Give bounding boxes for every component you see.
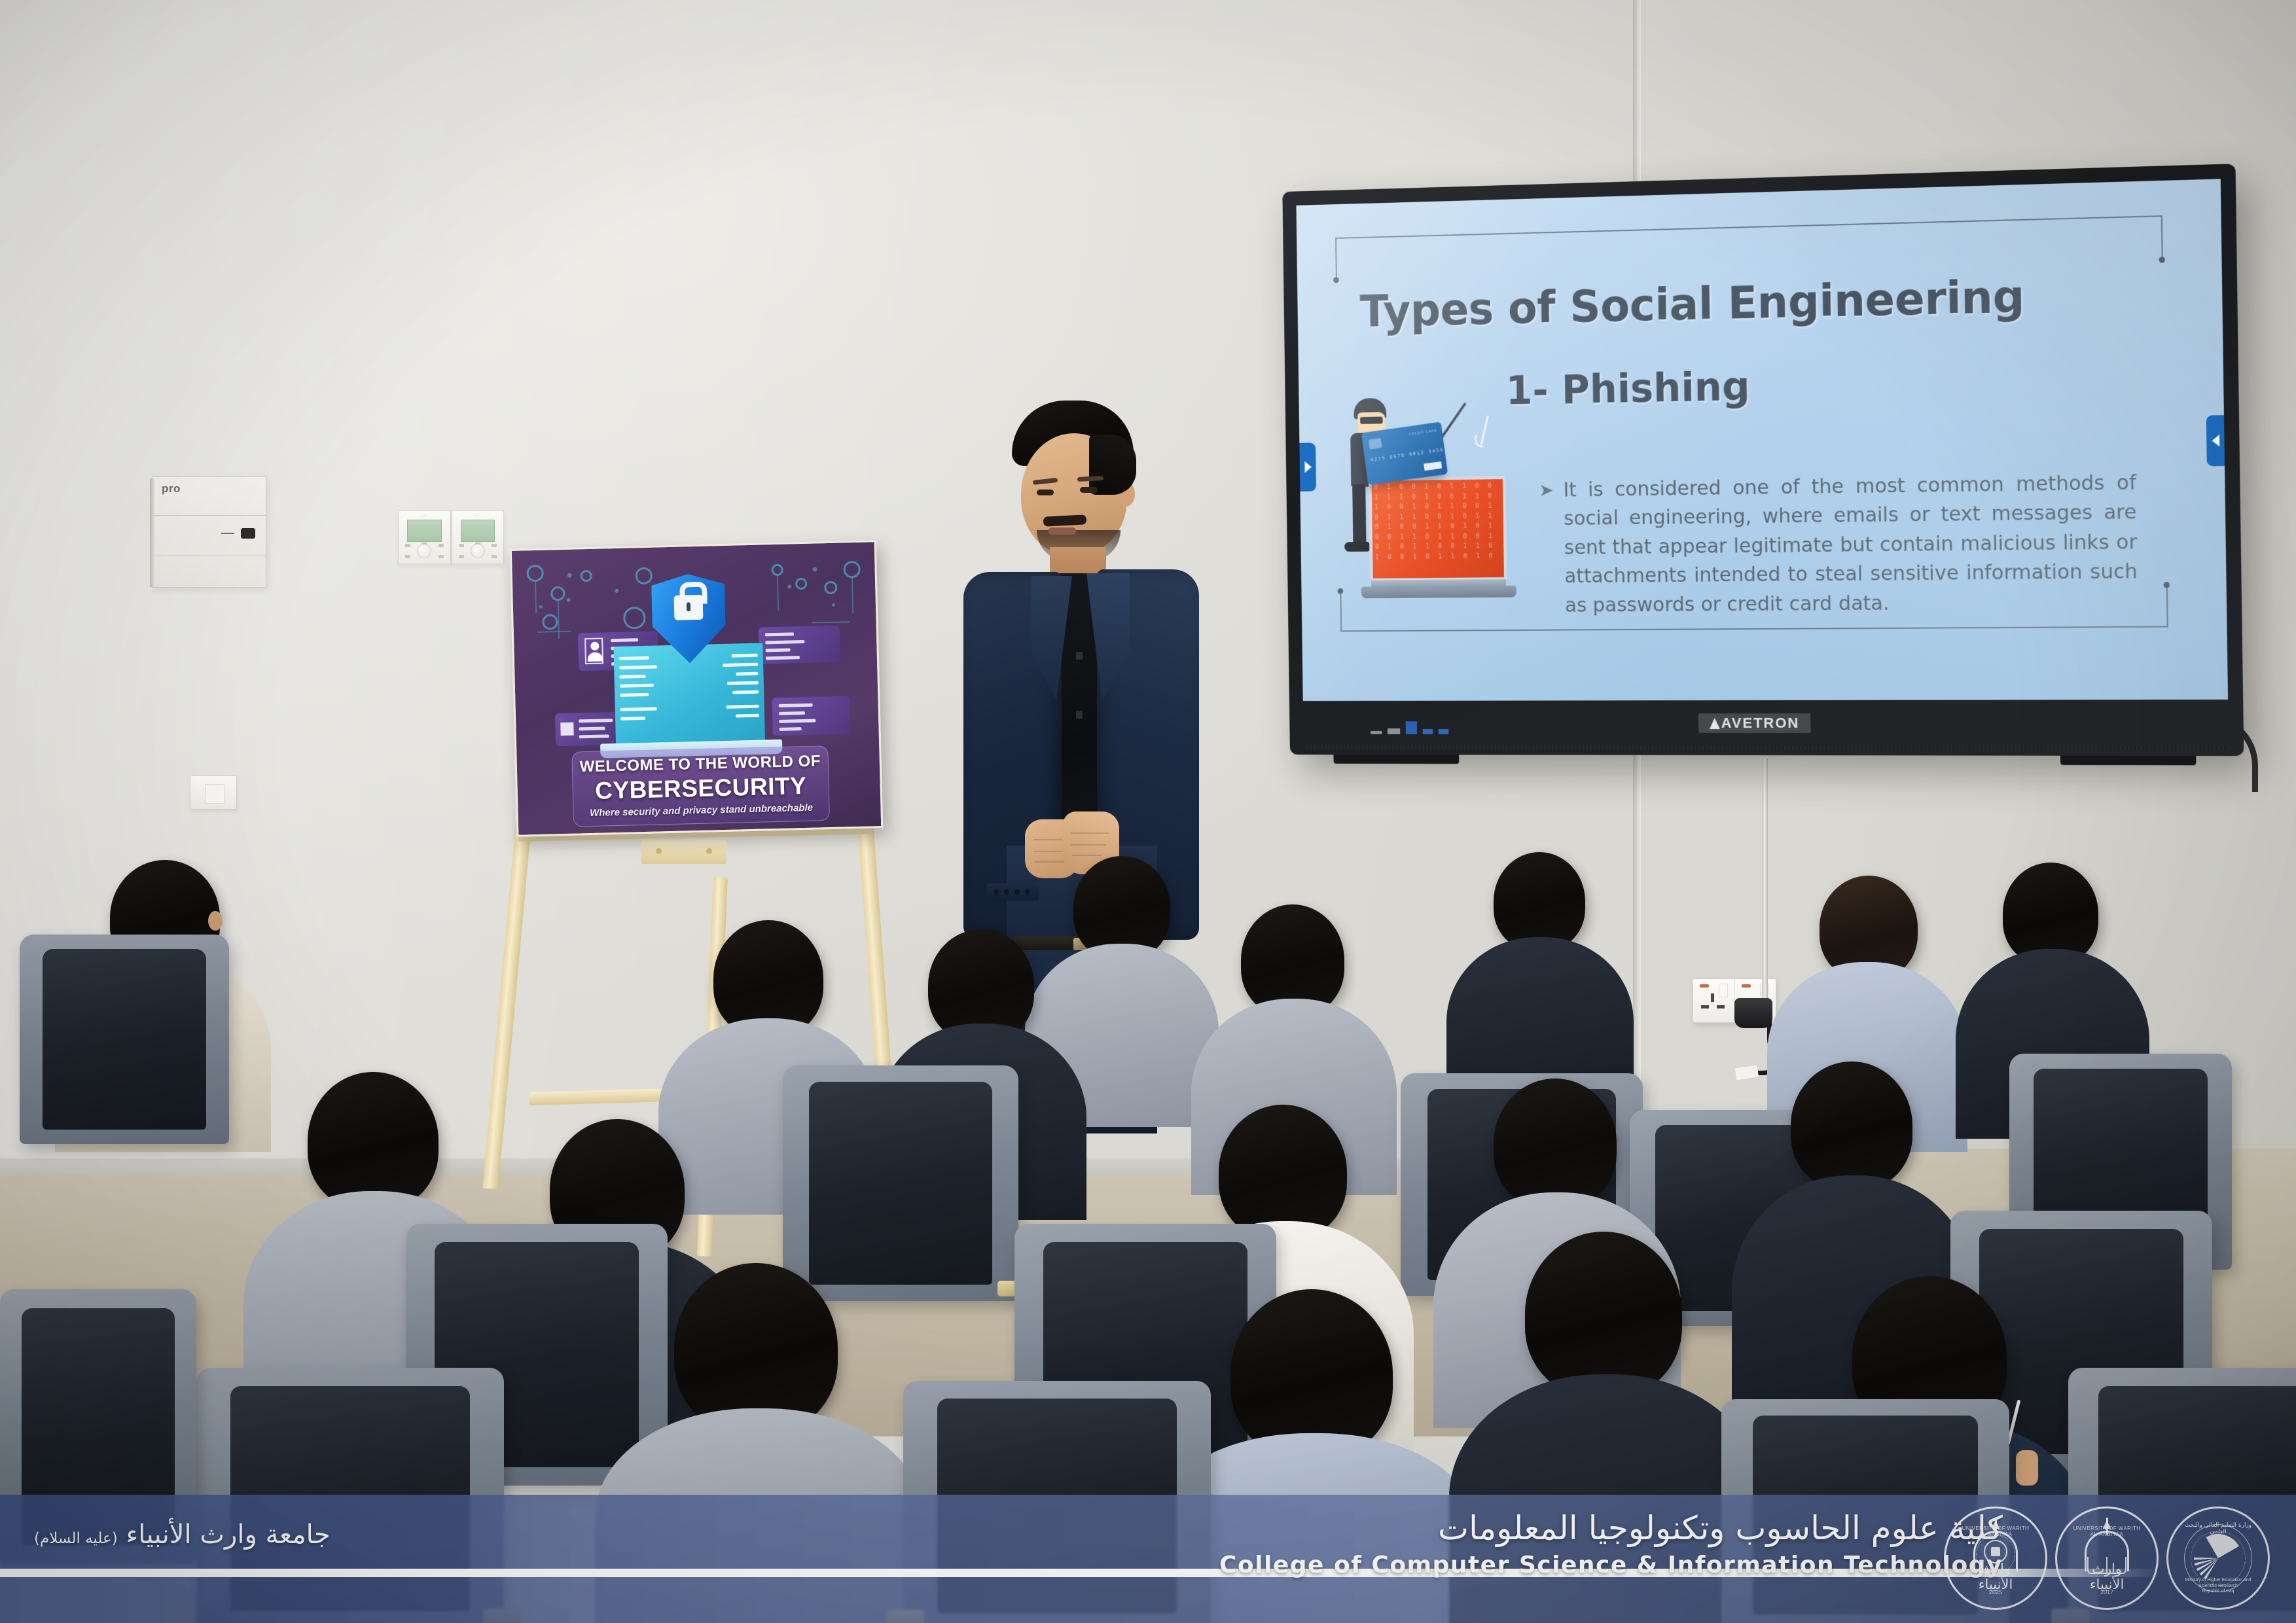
display-screen[interactable]: Types of Social Engineering 1- Phishing … <box>1296 179 2228 701</box>
audience-head <box>308 1072 439 1209</box>
card-line <box>780 727 802 731</box>
node-dot <box>567 573 572 578</box>
slide-frame-dot <box>1333 277 1339 283</box>
node-circle <box>771 564 783 576</box>
display-speaker-grille <box>1306 744 2226 750</box>
card-line <box>765 640 804 644</box>
poster-headline-main: CYBERSECURITY <box>573 772 829 806</box>
university-name: جامعة وارث الأنبياء (عليه السلام) <box>34 1520 331 1550</box>
finger-crease <box>1072 855 1102 856</box>
university-seal-logo[interactable]: UNIVERSITY OF WARITH AL-ANBIYAA وارث الأ… <box>1944 1507 2047 1610</box>
port-usb[interactable] <box>1388 728 1400 734</box>
credit-card-icon: CREDIT CARD 4275 5678 9012 3456 <box>1361 421 1448 485</box>
screen-line <box>736 714 759 718</box>
screen-line <box>619 665 657 669</box>
ministry-name-english: Ministry of Higher Education and Scienti… <box>2180 1578 2256 1595</box>
port-hdmi[interactable] <box>1371 731 1382 734</box>
presentation-slide: Types of Social Engineering 1- Phishing … <box>1296 179 2228 701</box>
card-strip <box>1424 461 1442 471</box>
presenter-mouth <box>1049 527 1076 535</box>
audience-head <box>1525 1232 1682 1397</box>
node-dot <box>567 598 571 602</box>
seal-name-arabic: وارث الأنبياء <box>1962 1561 2030 1592</box>
thermostat-lcd-display <box>461 520 495 542</box>
thermostat-right[interactable]: ····· <box>452 510 505 564</box>
card-line <box>779 704 813 707</box>
screen-line <box>619 675 645 679</box>
display-port-cluster[interactable] <box>1371 721 1448 734</box>
display-foot-left <box>1333 755 1459 764</box>
node-dot <box>787 584 791 588</box>
slide-frame-top-right <box>2161 215 2163 259</box>
emblem-glyph: UNIVERSITY OF WARITH AL-ANBIYAA وارث الأ… <box>2073 1520 2141 1596</box>
display-brand-label: AVETRON <box>1721 715 1800 732</box>
thermostat-dial[interactable] <box>417 544 431 558</box>
hacker-leg-left <box>1352 484 1366 546</box>
node-line <box>558 599 560 639</box>
easel-screw <box>656 848 662 854</box>
college-name-block: كلية علوم الحاسوب وتكنولوجيا المعلومات C… <box>1219 1509 2003 1578</box>
whiteboard-sidebar-toggle-left[interactable] <box>1299 442 1316 491</box>
poster-data-card-right <box>759 626 840 664</box>
port-vga[interactable] <box>1406 721 1418 734</box>
node-circle <box>542 614 558 630</box>
light-switch-plate[interactable] <box>190 776 237 810</box>
node-circle <box>795 578 807 590</box>
thermostat-buttons[interactable] <box>457 542 499 559</box>
screen-line <box>620 707 657 711</box>
panel-latch[interactable] <box>241 528 255 539</box>
thermostat-btn-4[interactable] <box>405 555 410 558</box>
audience-head <box>674 1263 838 1433</box>
seal-arc-text: UNIVERSITY OF WARITH AL-ANBIYAA <box>1962 1525 2030 1537</box>
thermostat-btn-5[interactable] <box>492 555 497 558</box>
slide-frame-dot <box>2159 257 2164 262</box>
ministry-sunburst-icon <box>2194 1534 2242 1582</box>
thermostat-btn-3[interactable] <box>492 544 497 547</box>
electrical-panel[interactable]: pro <box>152 476 266 588</box>
thermostat-brand-text: ····· <box>399 514 450 518</box>
ministry-glyph: وزارة التعليم العالي والبحث العلمي Minis… <box>2180 1520 2256 1596</box>
audience-head <box>1494 1079 1617 1208</box>
card-line <box>579 719 613 722</box>
node-circle <box>623 607 646 630</box>
thermostat-btn-5[interactable] <box>439 555 444 558</box>
interactive-smart-display[interactable]: Types of Social Engineering 1- Phishing … <box>1282 164 2244 756</box>
screen-line <box>619 656 649 660</box>
padlock-icon <box>674 595 704 620</box>
ministry-line-2: Republic of Iraq <box>2202 1589 2234 1594</box>
node-dot <box>615 589 619 593</box>
thermostat-brand-text: ····· <box>452 514 504 518</box>
card-line <box>611 638 638 642</box>
thermostat-pair[interactable]: ····· ····· <box>398 510 504 564</box>
screen-line <box>723 663 758 667</box>
card-chip <box>1369 438 1382 449</box>
hacker-shoe-left <box>1344 542 1369 552</box>
audience-head <box>1494 852 1585 950</box>
node-circle <box>843 561 861 579</box>
node-circle <box>526 565 544 582</box>
node-circle <box>635 567 653 585</box>
screen-line <box>726 705 759 709</box>
panel-seam-bottom <box>152 556 266 556</box>
shirt-button <box>1076 652 1083 660</box>
audience-hand <box>2016 1450 2038 1486</box>
branding-footer: جامعة وارث الأنبياء (عليه السلام) كلية ع… <box>0 1495 2296 1623</box>
easel-screw <box>706 848 712 854</box>
node-dot <box>832 603 835 607</box>
cybersecurity-poster: WELCOME TO THE WORLD OF CYBERSECURITY Wh… <box>510 540 884 837</box>
panel-label-dash <box>221 533 234 534</box>
phishing-hacker-illustration: 0 1 0 0 1 0 1 1 0 0 1 1 1 0 1 0 0 1 1 0 … <box>1334 387 1538 602</box>
thermostat-buttons[interactable] <box>404 542 445 559</box>
screen-line <box>732 654 758 658</box>
node-line <box>535 580 537 613</box>
thermostat-btn-1[interactable] <box>405 544 410 547</box>
node-circle <box>581 570 592 582</box>
panel-hinge <box>150 478 154 587</box>
card-line <box>766 648 791 652</box>
screen-line <box>620 717 645 721</box>
chair-cushion <box>809 1082 993 1285</box>
card-line <box>779 711 805 715</box>
laptop-binary-background: 0 1 0 0 1 0 1 1 0 0 1 1 1 0 1 0 0 1 1 0 … <box>1372 479 1504 579</box>
thermostat-dial[interactable] <box>471 544 485 558</box>
node-dot <box>813 567 817 571</box>
screen-line <box>727 681 759 685</box>
audience-head <box>1791 1061 1912 1190</box>
ministry-name-arabic: وزارة التعليم العالي والبحث العلمي <box>2180 1522 2256 1535</box>
node-line <box>777 576 779 611</box>
emblem-name-arabic: وارث الأنبياء <box>2073 1561 2141 1592</box>
panel-seam-top <box>152 515 266 516</box>
screen-line <box>620 693 649 697</box>
shirt-button <box>1076 711 1083 719</box>
college-name-english: College of Computer Science & Informatio… <box>1219 1552 2003 1578</box>
presenter-eye-right <box>1080 487 1098 493</box>
port-lan[interactable] <box>1439 729 1449 734</box>
finger-crease <box>1071 832 1109 834</box>
chevron-left-icon <box>2212 435 2219 447</box>
college-name-arabic: كلية علوم الحاسوب وتكنولوجيا المعلومات <box>1219 1509 2003 1547</box>
display-foot-right <box>2060 756 2196 766</box>
slide-bullet-marker: ➤ <box>1539 478 1554 504</box>
chair-cushion <box>43 949 206 1129</box>
ministry-line-1: Ministry of Higher Education and Scienti… <box>2185 1578 2251 1588</box>
thermostat-btn-3[interactable] <box>439 544 444 547</box>
card-line <box>579 734 609 738</box>
thermostat-btn-1[interactable] <box>459 544 464 547</box>
thermostat-lcd-display <box>407 520 442 542</box>
presenter-eye-left <box>1037 490 1054 495</box>
display-bottom-bezel: AVETRON <box>1289 698 2244 756</box>
node-circle <box>550 586 565 601</box>
emblem-arc-text: UNIVERSITY OF WARITH AL-ANBIYAA <box>2073 1525 2141 1537</box>
emblem-year: 2017 <box>2073 1589 2141 1596</box>
presenter-hair-side <box>1089 435 1136 495</box>
laptop-screen: 0 1 0 0 1 0 1 1 0 0 1 1 1 0 1 0 0 1 1 0 … <box>1369 476 1507 582</box>
slide-frame-bottom <box>1340 626 2168 632</box>
university-emblem-logo[interactable]: UNIVERSITY OF WARITH AL-ANBIYAA وارث الأ… <box>2055 1507 2159 1610</box>
seal-year: 2025 <box>1962 1589 2030 1596</box>
brand-chevron-icon <box>1710 718 1720 729</box>
seal-glyph: UNIVERSITY OF WARITH AL-ANBIYAA وارث الأ… <box>1962 1520 2030 1596</box>
slide-frame-bottom-right <box>2166 584 2168 627</box>
ministry-of-higher-education-logo[interactable]: وزارة التعليم العالي والبحث العلمي Minis… <box>2166 1507 2270 1610</box>
poster-headline-badge: WELCOME TO THE WORLD OF CYBERSECURITY Wh… <box>571 745 830 827</box>
screen-line <box>620 684 654 688</box>
fishing-hook-icon <box>1480 416 1489 445</box>
thermostat-btn-4[interactable] <box>459 555 464 558</box>
slide-subtitle: 1- Phishing <box>1505 364 1750 414</box>
poster-data-card-left <box>555 712 622 746</box>
lecture-photo: pro ····· ····· <box>0 0 2296 1623</box>
university-name-arabic: جامعة وارث الأنبياء <box>126 1520 330 1550</box>
card-line <box>766 656 800 660</box>
node-line <box>537 631 571 633</box>
card-line <box>779 719 816 723</box>
gear-icon <box>1984 1540 2007 1563</box>
poster-data-card-lower-right <box>772 696 850 736</box>
audience-ear <box>208 911 223 931</box>
slide-title: Types of Social Engineering <box>1359 271 2024 337</box>
auditorium-chair[interactable] <box>783 1065 1018 1301</box>
audience-head <box>1219 1105 1347 1240</box>
person-icon-body <box>588 652 603 662</box>
thermostat-left[interactable]: ····· <box>398 510 451 564</box>
node-line <box>852 577 853 613</box>
person-icon-head <box>590 642 599 651</box>
port-audio[interactable] <box>1423 729 1433 734</box>
slide-body-paragraph: It is considered one of the most common … <box>1563 471 2138 616</box>
card-line <box>765 632 794 636</box>
slide-body-text: ➤ It is considered one of the most commo… <box>1563 469 2138 620</box>
card-line <box>579 726 605 730</box>
whiteboard-sidebar-toggle-right[interactable] <box>2206 415 2225 466</box>
auditorium-chair[interactable] <box>20 935 229 1144</box>
hacker-eye-mask <box>1360 417 1383 424</box>
laptop-base <box>1361 586 1516 598</box>
logo-row: UNIVERSITY OF WARITH AL-ANBIYAA وارث الأ… <box>1944 1507 2270 1610</box>
electrical-panel-label: pro <box>162 482 181 495</box>
display-brand-plate: AVETRON <box>1698 713 1811 733</box>
screen-line <box>736 672 758 676</box>
slide-frame-top <box>1335 215 2162 239</box>
card-brand-text: CREDIT CARD <box>1408 429 1437 437</box>
slide-frame-top-left <box>1335 238 1337 280</box>
person-icon-frame <box>584 637 603 664</box>
slide-frame-dot <box>2164 582 2170 588</box>
university-honorific: (عليه السلام) <box>34 1530 118 1547</box>
node-line <box>812 621 850 623</box>
card-number-text: 4275 5678 9012 3456 <box>1371 447 1444 463</box>
screen-line <box>732 690 759 694</box>
node-circle <box>824 581 837 594</box>
card-block-icon <box>560 722 573 736</box>
chevron-right-icon <box>1304 461 1312 473</box>
display-feet <box>1290 755 2244 765</box>
node-dot <box>539 605 543 609</box>
finger-crease <box>1071 844 1106 846</box>
